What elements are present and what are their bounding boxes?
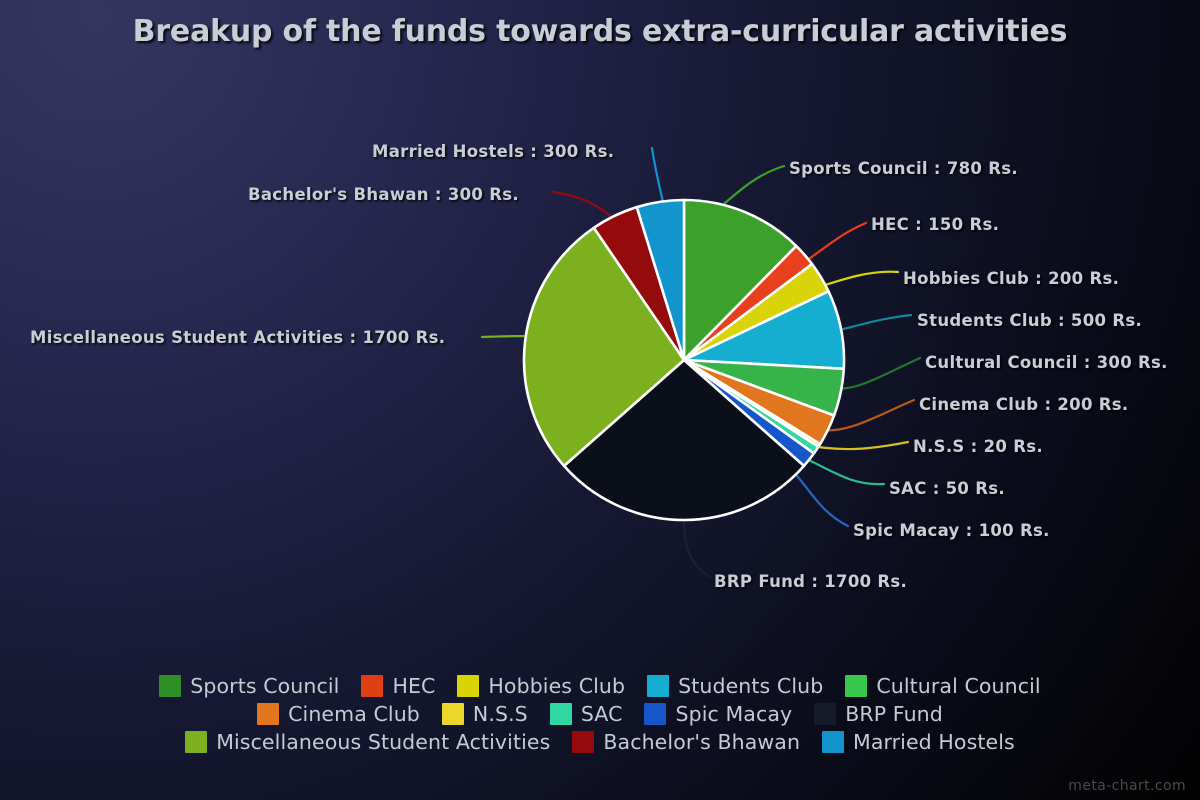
legend-item-label: Sports Council xyxy=(190,674,339,698)
legend-swatch-icon xyxy=(814,703,836,725)
legend-swatch-icon xyxy=(185,731,207,753)
callout-label-bachelors-bhawan: Bachelor's Bhawan : 300 Rs. xyxy=(248,185,519,204)
legend-item-label: SAC xyxy=(581,702,623,726)
legend-item-bachelor-s-bhawan[interactable]: Bachelor's Bhawan xyxy=(572,728,800,756)
legend-item-label: Cinema Club xyxy=(288,702,420,726)
callout-label-students-club: Students Club : 500 Rs. xyxy=(917,311,1142,330)
legend-swatch-icon xyxy=(644,703,666,725)
legend-item-miscellaneous-student-activities[interactable]: Miscellaneous Student Activities xyxy=(185,728,550,756)
callout-label-hec: HEC : 150 Rs. xyxy=(871,215,999,234)
legend: Sports CouncilHECHobbies ClubStudents Cl… xyxy=(0,672,1200,756)
legend-item-students-club[interactable]: Students Club xyxy=(647,672,823,700)
sports-council-leader xyxy=(718,166,784,209)
pie-slice-group xyxy=(524,200,844,520)
watermark: meta-chart.com xyxy=(1068,778,1186,794)
legend-swatch-icon xyxy=(845,675,867,697)
legend-item-cinema-club[interactable]: Cinema Club xyxy=(257,700,420,728)
legend-item-label: Cultural Council xyxy=(876,674,1040,698)
legend-swatch-icon xyxy=(550,703,572,725)
legend-item-label: N.S.S xyxy=(473,702,528,726)
legend-item-label: Married Hostels xyxy=(853,730,1015,754)
legend-swatch-icon xyxy=(442,703,464,725)
callout-label-spic-macay: Spic Macay : 100 Rs. xyxy=(853,521,1050,540)
legend-item-married-hostels[interactable]: Married Hostels xyxy=(822,728,1015,756)
legend-item-label: Students Club xyxy=(678,674,823,698)
callout-label-nss: N.S.S : 20 Rs. xyxy=(913,437,1043,456)
legend-item-label: Miscellaneous Student Activities xyxy=(216,730,550,754)
legend-item-brp-fund[interactable]: BRP Fund xyxy=(814,700,943,728)
legend-swatch-icon xyxy=(159,675,181,697)
legend-item-label: BRP Fund xyxy=(845,702,943,726)
legend-item-n-s-s[interactable]: N.S.S xyxy=(442,700,528,728)
callout-label-sac: SAC : 50 Rs. xyxy=(889,479,1005,498)
hobbies-club-leader xyxy=(816,272,898,288)
legend-swatch-icon xyxy=(647,675,669,697)
legend-item-spic-macay[interactable]: Spic Macay xyxy=(644,700,792,728)
legend-item-hec[interactable]: HEC xyxy=(361,672,435,700)
callout-label-sports-council: Sports Council : 780 Rs. xyxy=(789,159,1018,178)
miscellaneous-leader xyxy=(482,336,530,337)
hec-leader xyxy=(806,223,866,261)
legend-item-label: Hobbies Club xyxy=(488,674,625,698)
legend-swatch-icon xyxy=(572,731,594,753)
legend-item-label: Bachelor's Bhawan xyxy=(603,730,800,754)
legend-item-sports-council[interactable]: Sports Council xyxy=(159,672,339,700)
callout-label-married-hostels: Married Hostels : 300 Rs. xyxy=(372,142,614,161)
legend-swatch-icon xyxy=(822,731,844,753)
brp-fund-leader xyxy=(684,520,710,577)
callout-label-hobbies-club: Hobbies Club : 200 Rs. xyxy=(903,269,1119,288)
legend-item-sac[interactable]: SAC xyxy=(550,700,623,728)
callout-label-cinema-club: Cinema Club : 200 Rs. xyxy=(919,395,1128,414)
legend-swatch-icon xyxy=(457,675,479,697)
pie-chart-canvas: Breakup of the funds towards extra-curri… xyxy=(0,0,1200,800)
legend-item-cultural-council[interactable]: Cultural Council xyxy=(845,672,1040,700)
legend-swatch-icon xyxy=(361,675,383,697)
legend-item-hobbies-club[interactable]: Hobbies Club xyxy=(457,672,625,700)
legend-item-label: Spic Macay xyxy=(675,702,792,726)
callout-label-miscellaneous: Miscellaneous Student Activities : 1700 … xyxy=(30,328,445,347)
callout-label-cultural-council: Cultural Council : 300 Rs. xyxy=(925,353,1168,372)
legend-item-label: HEC xyxy=(392,674,435,698)
legend-swatch-icon xyxy=(257,703,279,725)
callout-label-brp-fund: BRP Fund : 1700 Rs. xyxy=(714,572,907,591)
